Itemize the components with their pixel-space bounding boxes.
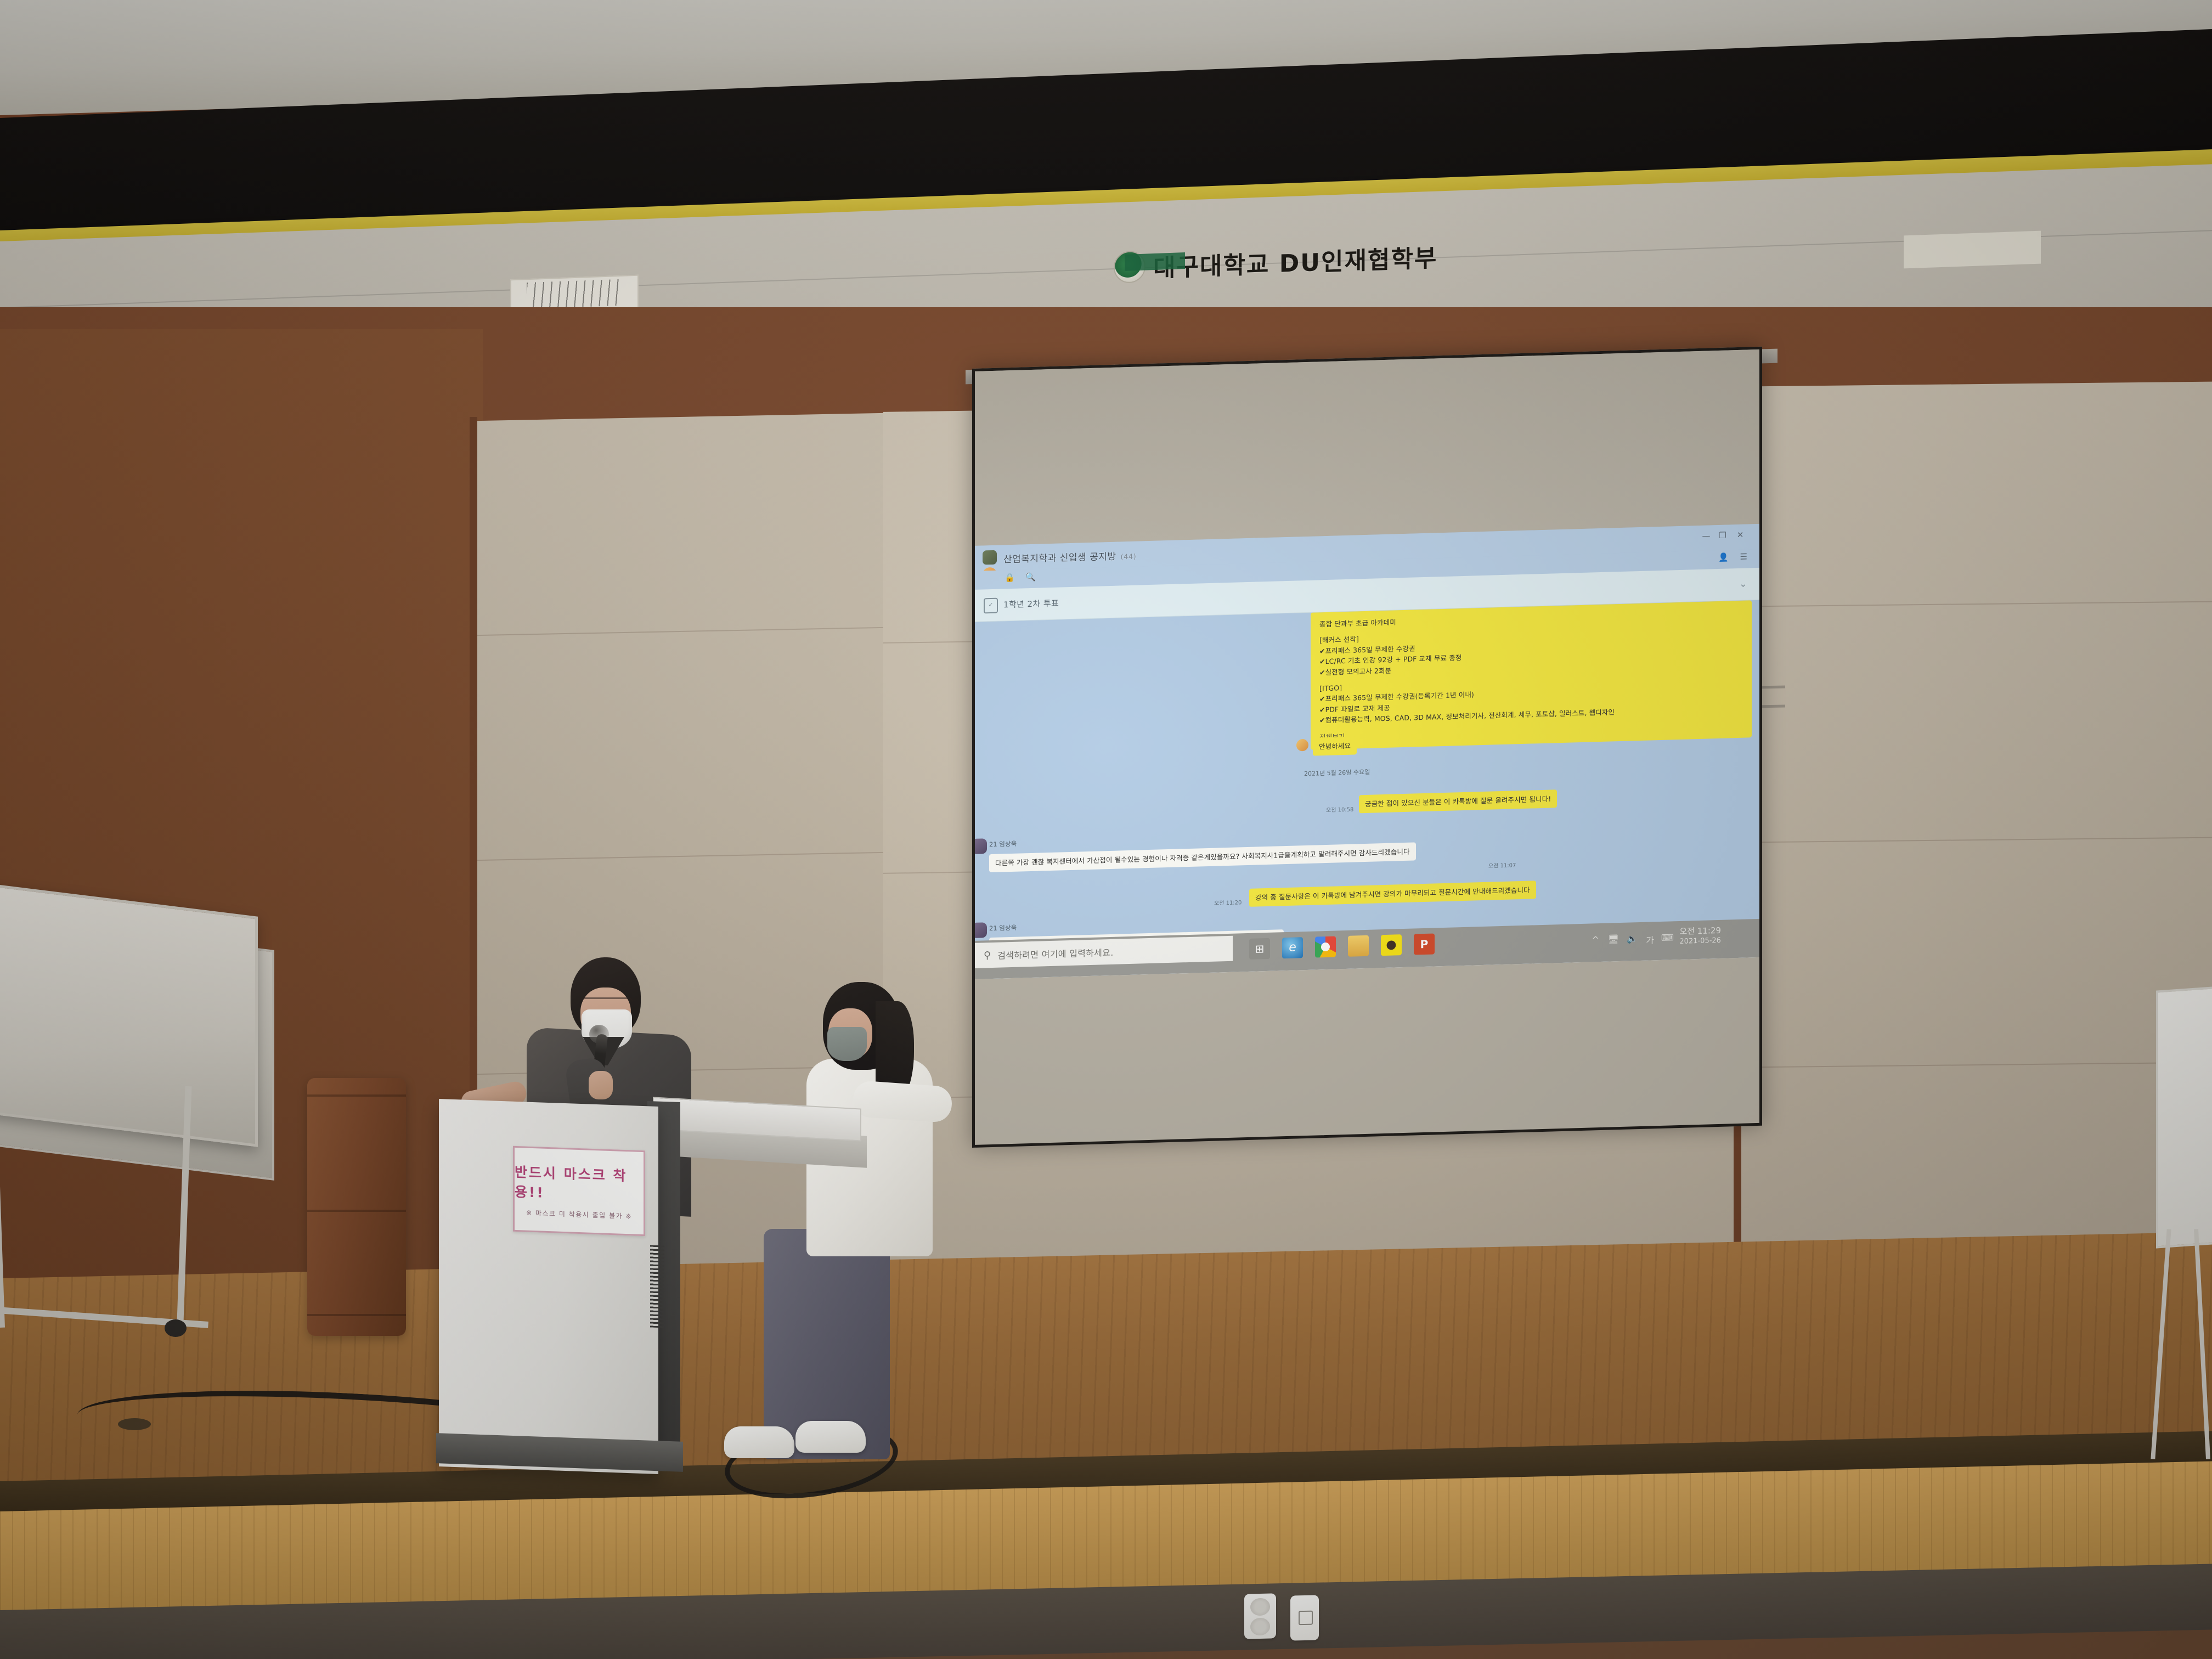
message-bubble-promo[interactable]: 종합 단과부 초급 아카데미 [해커스 선착] ✔프리패스 365일 무제한 수… bbox=[1311, 600, 1752, 749]
senderpic-student-2 bbox=[975, 922, 987, 938]
chevron-down-icon[interactable]: ⌄ bbox=[1739, 578, 1747, 590]
clock-time: 오전 11:29 bbox=[1679, 926, 1721, 938]
mask-required-sign: 반드시 마스크 착용!! ※ 마스크 미 착용시 출입 불가 ※ bbox=[513, 1146, 645, 1236]
plug-icon bbox=[1299, 1611, 1313, 1626]
task-view-icon[interactable]: ⊞ bbox=[1249, 938, 1270, 960]
screen-blank-area bbox=[975, 349, 1759, 552]
podium-vent bbox=[650, 1245, 664, 1328]
chatroom-avatar bbox=[983, 550, 997, 565]
woman-face-mask bbox=[827, 1027, 867, 1061]
projection-screen: 산업복지학과 신입생 공지방(44) — ❐ ✕ 🔒 🔍 👤 ☰ ✓ 1학년 2… bbox=[972, 347, 1762, 1148]
auditorium-photo: 대구대학교 DU인재협학부 산업복지학과 신입생 bbox=[0, 0, 2212, 1659]
kakaotalk-window[interactable]: 산업복지학과 신입생 공지방(44) — ❐ ✕ 🔒 🔍 👤 ☰ ✓ 1학년 2… bbox=[975, 524, 1759, 979]
message-bubble-student-1[interactable]: 다른쪽 가장 괜찮 복지센터에서 가산점이 될수있는 경험이나 자격증 같은게있… bbox=[989, 842, 1416, 872]
minimize-button[interactable]: — bbox=[1700, 531, 1712, 541]
clock-date: 2021-05-26 bbox=[1679, 936, 1721, 946]
keyboard-icon[interactable]: ⌨ bbox=[1661, 932, 1674, 943]
monitor-icon[interactable]: 🖥 bbox=[1608, 934, 1619, 945]
search-icon: ⚲ bbox=[984, 950, 991, 961]
wall-switch-plate[interactable] bbox=[1290, 1595, 1319, 1640]
chat-message-list[interactable]: 종합 단과부 초급 아카데미 [해커스 선착] ✔프리패스 365일 무제한 수… bbox=[975, 600, 1759, 957]
senderpic-student-1 bbox=[975, 838, 987, 854]
date-separator: 2021년 5월 26일 수요일 bbox=[1304, 768, 1370, 778]
send-button[interactable] bbox=[1703, 965, 1751, 979]
whiteboard-caster bbox=[165, 1319, 187, 1337]
wall-panel-right bbox=[1739, 381, 2212, 1308]
whiteboard-front bbox=[0, 883, 258, 1147]
mask-sign-headline: 반드시 마스크 착용!! bbox=[515, 1161, 644, 1205]
woman-arm bbox=[852, 1080, 953, 1123]
ime-icon[interactable]: 가 bbox=[1646, 933, 1654, 946]
maximize-button[interactable]: ❐ bbox=[1717, 530, 1729, 540]
banner-patch-pattern bbox=[527, 279, 620, 309]
mask-sign-subtext: ※ 마스크 미 착용시 출입 불가 ※ bbox=[526, 1207, 632, 1221]
person-icon[interactable]: 👤 bbox=[1718, 552, 1729, 562]
glasses-icon bbox=[579, 997, 633, 1010]
message-bubble-q-prompt[interactable]: 궁금한 점이 있으신 분들은 이 카톡방에 질문 올려주시면 됩니다! bbox=[1359, 789, 1557, 813]
woman-shoe-right bbox=[795, 1421, 866, 1453]
chatroom-title-text: 산업복지학과 신입생 공지방 bbox=[1003, 551, 1116, 566]
taskbar-clock[interactable]: 오전 11:29 2021-05-26 bbox=[1679, 926, 1721, 947]
banner-green-block bbox=[1125, 252, 1185, 271]
easel-board-right bbox=[2156, 984, 2212, 1248]
search-icon[interactable]: 🔍 bbox=[1025, 572, 1036, 583]
banner-patch-right bbox=[1904, 231, 2041, 269]
socket-lower bbox=[1250, 1618, 1270, 1636]
chrome-icon-center bbox=[1321, 943, 1330, 951]
timestamp-q-prompt: 오전 10:58 bbox=[1326, 805, 1353, 814]
powerpoint-icon[interactable]: P bbox=[1414, 933, 1435, 955]
stage-barrel-prop bbox=[307, 1078, 406, 1336]
speaker-icon[interactable]: 🔈 bbox=[1627, 933, 1638, 944]
chatroom-title: 산업복지학과 신입생 공지방(44) bbox=[1003, 548, 1136, 566]
file-explorer-icon[interactable] bbox=[1348, 935, 1369, 957]
senderpic-greeting bbox=[1296, 739, 1308, 752]
message-bubble-answer[interactable]: 강의 중 질문사항은 이 카톡방에 남겨주시면 강의가 마무리되고 질문시간에 … bbox=[1249, 881, 1536, 907]
kakaotalk-icon[interactable]: ● bbox=[1381, 934, 1402, 956]
windows-search-box[interactable]: ⚲ 검색하려면 여기에 입력하세요. bbox=[975, 936, 1233, 968]
notice-text: 1학년 2차 투표 bbox=[1003, 597, 1059, 611]
search-placeholder: 검색하려면 여기에 입력하세요. bbox=[997, 945, 1113, 962]
chevron-up-icon[interactable]: ^ bbox=[1592, 934, 1599, 945]
sender-name-2: 21 임상욱 bbox=[989, 923, 1017, 933]
man-hand-holding-mic bbox=[589, 1071, 613, 1099]
vote-icon: ✓ bbox=[984, 598, 998, 614]
chrome-icon[interactable] bbox=[1315, 936, 1336, 957]
sender-name-1: 21 임상욱 bbox=[989, 839, 1017, 849]
internet-explorer-icon[interactable]: e bbox=[1282, 937, 1303, 958]
chatroom-member-count: (44) bbox=[1121, 553, 1137, 562]
wall-seam bbox=[0, 230, 2212, 308]
woman-shoe-left bbox=[724, 1426, 794, 1458]
menu-icon[interactable]: ☰ bbox=[1740, 552, 1747, 562]
timestamp-student-1: 오전 11:07 bbox=[1488, 860, 1516, 869]
wall-power-outlet[interactable] bbox=[1244, 1593, 1276, 1639]
lock-icon[interactable]: 🔒 bbox=[1005, 573, 1015, 583]
close-button[interactable]: ✕ bbox=[1734, 530, 1746, 540]
timestamp-answer: 오전 11:20 bbox=[1214, 898, 1242, 906]
message-bubble-greeting[interactable]: 안녕하세요 bbox=[1313, 736, 1357, 756]
socket-upper bbox=[1250, 1598, 1270, 1616]
